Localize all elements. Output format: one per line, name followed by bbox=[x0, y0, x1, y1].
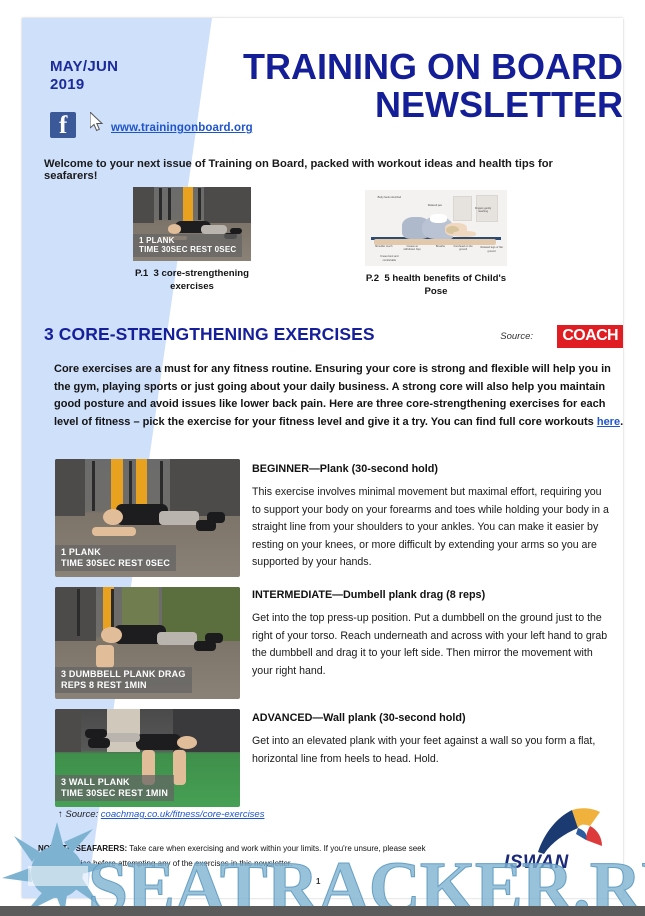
section-heading: 3 CORE-STRENGTHENING EXERCISES bbox=[44, 324, 375, 345]
thumbnail-image-childspose: Body feels stretched Relaxed jaw Fingers… bbox=[365, 190, 507, 266]
exercise-title: ADVANCED—Wall plank (30-second hold) bbox=[252, 712, 612, 724]
intro-text-before-link: Core exercises are a must for any fitnes… bbox=[54, 363, 611, 428]
iswan-logo: ISWAN bbox=[498, 806, 618, 878]
exercise-body: This exercise involves minimal movement … bbox=[252, 484, 612, 572]
exercise-title: BEGINNER—Plank (30-second hold) bbox=[252, 463, 612, 475]
exercise-image-advanced: 3 WALL PLANK TIME 30SEC REST 1MIN bbox=[55, 709, 240, 807]
full-core-workouts-link[interactable]: here bbox=[597, 416, 620, 428]
masthead-line-1: TRAINING ON BOARD bbox=[243, 46, 623, 87]
page-number: 1 bbox=[316, 877, 320, 886]
thumbnail-page-ref: P.1 bbox=[135, 268, 148, 279]
disclaimer-label: NOTE TO SEAFARERS: bbox=[38, 844, 127, 853]
intro-text-after-link: . bbox=[620, 416, 623, 428]
thumbnail-caption-plank: P.1 3 core-strengthening exercises bbox=[133, 267, 251, 293]
childs-pose-diagram-art: Body feels stretched Relaxed jaw Fingers… bbox=[365, 190, 507, 266]
exercise-title: INTERMEDIATE—Dumbell plank drag (8 reps) bbox=[252, 589, 612, 601]
exercise-body: Get into the top press-up position. Put … bbox=[252, 610, 612, 680]
issue-month: MAY/JUN bbox=[50, 58, 190, 76]
source-note-link[interactable]: coachmag.co.uk/fitness/core-exercises bbox=[101, 809, 265, 820]
thumbnail-caption-childspose: P.2 5 health benefits of Child's Pose bbox=[365, 272, 507, 298]
thumbnail-caption-text: 5 health benefits of Child's Pose bbox=[384, 273, 506, 297]
iswan-wordmark: ISWAN bbox=[504, 852, 569, 874]
exercise-text-beginner: BEGINNER—Plank (30-second hold) This exe… bbox=[252, 463, 612, 572]
mouse-cursor-icon bbox=[90, 112, 104, 132]
exercise-image-beginner: 1 PLANK TIME 30SEC REST 0SEC bbox=[55, 459, 240, 577]
up-arrow-icon: ↑ bbox=[58, 809, 63, 820]
masthead-line-2: NEWSLETTER bbox=[203, 86, 623, 124]
newsletter-page: MAY/JUN 2019 TRAINING ON BOARD NEWSLETTE… bbox=[0, 0, 645, 916]
issue-date: MAY/JUN 2019 bbox=[50, 58, 190, 94]
facebook-icon[interactable] bbox=[50, 112, 76, 138]
thumbnail-card-plank[interactable]: 1 PLANK TIME 30SEC REST 0SEC P.1 3 core-… bbox=[133, 187, 251, 293]
thumbnail-image-plank: 1 PLANK TIME 30SEC REST 0SEC bbox=[133, 187, 251, 261]
exercise-overlay-caption: 3 WALL PLANK TIME 30SEC REST 1MIN bbox=[55, 775, 174, 801]
exercise-image-intermediate: 3 DUMBBELL PLANK DRAG REPS 8 REST 1MIN bbox=[55, 587, 240, 699]
issue-year: 2019 bbox=[50, 76, 190, 94]
disclaimer-note: NOTE TO SEAFARERS: Take care when exerci… bbox=[38, 841, 433, 871]
intro-paragraph: Core exercises are a must for any fitnes… bbox=[54, 361, 627, 431]
source-note: ↑ Source: coachmag.co.uk/fitness/core-ex… bbox=[58, 809, 264, 820]
page-title: TRAINING ON BOARD NEWSLETTER bbox=[203, 48, 623, 124]
thumbnail-page-ref: P.2 bbox=[366, 273, 379, 284]
page-content: MAY/JUN 2019 TRAINING ON BOARD NEWSLETTE… bbox=[0, 0, 645, 916]
website-link[interactable]: www.trainingonboard.org bbox=[111, 122, 253, 134]
thumbnail-overlay-caption: 1 PLANK TIME 30SEC REST 0SEC bbox=[133, 234, 242, 257]
bottom-bar bbox=[0, 906, 645, 916]
iswan-sail-icon bbox=[498, 806, 618, 856]
exercise-overlay-caption: 1 PLANK TIME 30SEC REST 0SEC bbox=[55, 545, 176, 571]
source-note-prefix: Source: bbox=[65, 809, 98, 820]
thumbnail-card-childspose[interactable]: Body feels stretched Relaxed jaw Fingers… bbox=[365, 190, 507, 298]
exercise-overlay-caption: 3 DUMBBELL PLANK DRAG REPS 8 REST 1MIN bbox=[55, 667, 192, 693]
exercise-body: Get into an elevated plank with your fee… bbox=[252, 733, 612, 768]
source-label: Source: bbox=[500, 331, 533, 342]
thumbnail-caption-text: 3 core-strengthening exercises bbox=[154, 268, 249, 292]
welcome-text: Welcome to your next issue of Training o… bbox=[44, 158, 604, 182]
coach-logo: COACH bbox=[557, 325, 623, 348]
exercise-text-advanced: ADVANCED—Wall plank (30-second hold) Get… bbox=[252, 712, 612, 768]
exercise-text-intermediate: INTERMEDIATE—Dumbell plank drag (8 reps)… bbox=[252, 589, 612, 680]
